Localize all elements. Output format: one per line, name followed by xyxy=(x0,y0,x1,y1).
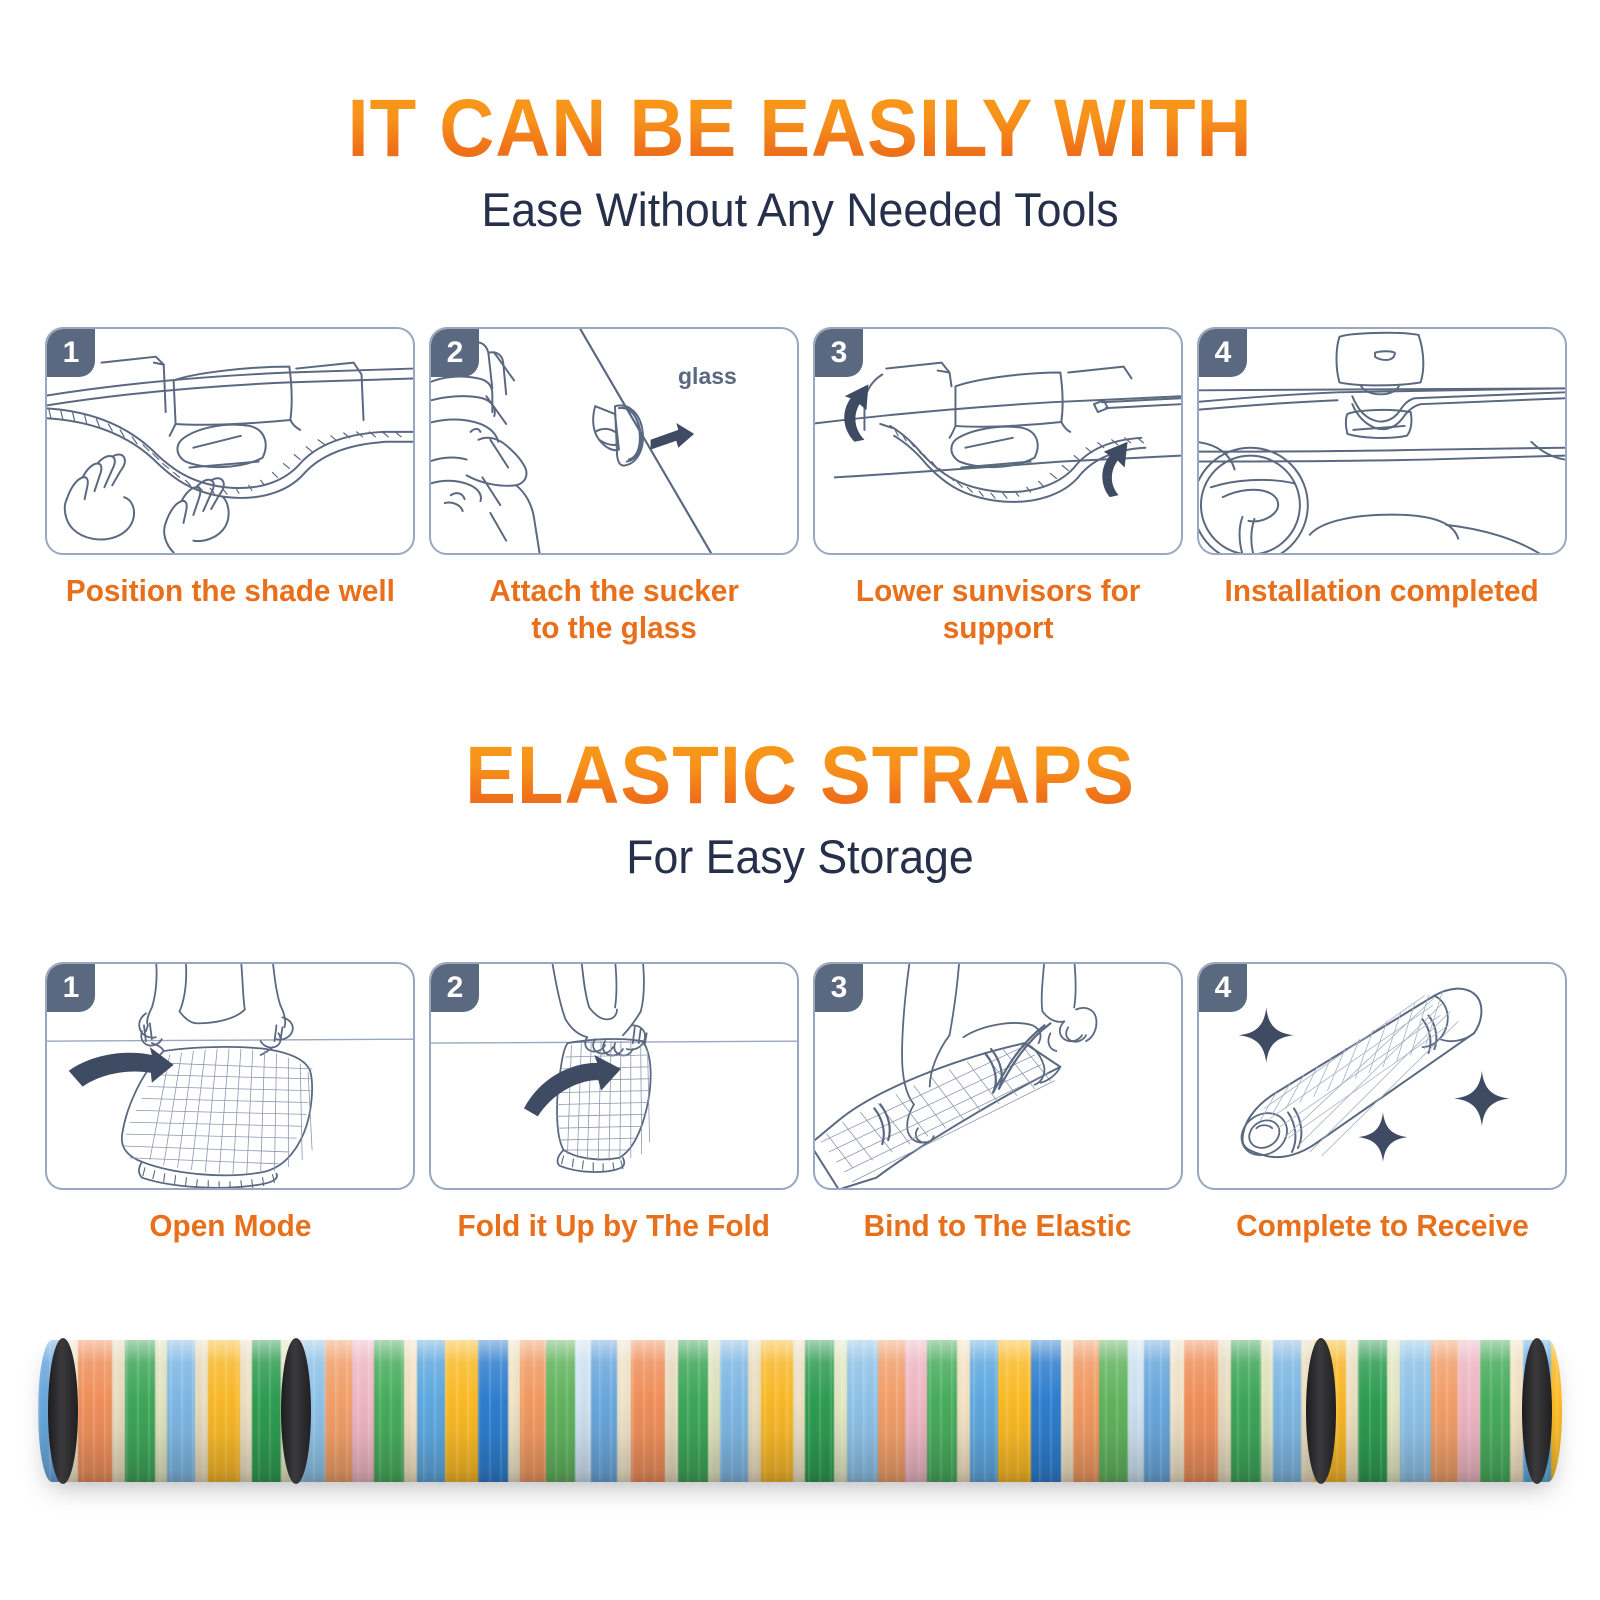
storage-step-2: 2 xyxy=(429,962,799,1245)
installation-section-heading: IT CAN BE EASILY WITH Ease Without Any N… xyxy=(0,88,1600,236)
step-number-badge: 4 xyxy=(1199,964,1247,1012)
hands-holding-open-mesh-shade-illustration xyxy=(47,964,413,1190)
installation-title: IT CAN BE EASILY WITH xyxy=(56,88,1544,170)
storage-step-4-caption: Complete to Receive xyxy=(1236,1208,1529,1245)
elastic-band-left xyxy=(48,1338,78,1484)
storage-title: ELASTIC STRAPS xyxy=(56,735,1544,817)
storage-step-2-panel[interactable]: 2 xyxy=(429,962,799,1190)
glass-annotation-label: glass xyxy=(678,363,737,390)
step-number-badge: 2 xyxy=(431,329,479,377)
step-number-badge: 4 xyxy=(1199,329,1247,377)
sunvisors-folding-down-illustration xyxy=(815,329,1181,555)
elastic-band-inner-left xyxy=(281,1338,311,1484)
rolled-striped-sunshade-photo xyxy=(38,1340,1562,1482)
storage-step-3-panel[interactable]: 3 xyxy=(813,962,1183,1190)
storage-steps-row: 1 xyxy=(45,962,1555,1245)
step-number-badge: 1 xyxy=(47,964,95,1012)
step-number-badge: 3 xyxy=(815,329,863,377)
installation-step-2-panel[interactable]: 2 xyxy=(429,327,799,555)
step-number-badge: 3 xyxy=(815,964,863,1012)
installation-step-1-caption: Position the shade well xyxy=(65,573,394,610)
hands-folding-mesh-shade-illustration xyxy=(431,964,797,1190)
car-interior-shade-placement-illustration xyxy=(47,329,413,555)
installation-step-1-panel[interactable]: 1 xyxy=(45,327,415,555)
storage-step-2-caption: Fold it Up by The Fold xyxy=(458,1208,770,1245)
installation-step-2: 2 xyxy=(429,327,799,646)
installation-subtitle: Ease Without Any Needed Tools xyxy=(40,184,1560,236)
installation-step-1: 1 xyxy=(45,327,415,646)
rolled-mat-with-sparkles-illustration xyxy=(1199,964,1565,1190)
storage-step-1: 1 xyxy=(45,962,415,1245)
installation-step-4-caption: Installation completed xyxy=(1225,573,1539,610)
storage-step-4: 4 xyxy=(1197,962,1567,1245)
installation-steps-row: 1 xyxy=(45,327,1555,646)
installation-step-4: 4 xyxy=(1197,327,1567,646)
hand-pressing-suction-cup-illustration xyxy=(431,329,797,555)
elastic-band-right xyxy=(1522,1338,1552,1484)
step-number-badge: 1 xyxy=(47,329,95,377)
storage-subtitle: For Easy Storage xyxy=(40,831,1560,883)
installation-step-3-caption: Lower sunvisors for support xyxy=(856,573,1140,646)
storage-step-3-caption: Bind to The Elastic xyxy=(864,1208,1132,1245)
storage-step-4-panel[interactable]: 4 xyxy=(1197,962,1567,1190)
storage-section-heading: ELASTIC STRAPS For Easy Storage xyxy=(0,735,1600,883)
installation-step-2-caption: Attach the sucker to the glass xyxy=(489,573,739,646)
binding-rolled-mat-with-elastic-illustration xyxy=(815,964,1181,1190)
storage-step-1-caption: Open Mode xyxy=(149,1208,311,1245)
installation-step-3-panel[interactable]: 3 xyxy=(813,327,1183,555)
storage-step-3: 3 xyxy=(813,962,1183,1245)
step-number-badge: 2 xyxy=(431,964,479,1012)
installation-step-3: 3 xyxy=(813,327,1183,646)
storage-step-1-panel[interactable]: 1 xyxy=(45,962,415,1190)
installed-shade-driver-view-illustration xyxy=(1199,329,1565,555)
elastic-band-inner-right xyxy=(1306,1338,1336,1484)
installation-step-4-panel[interactable]: 4 xyxy=(1197,327,1567,555)
